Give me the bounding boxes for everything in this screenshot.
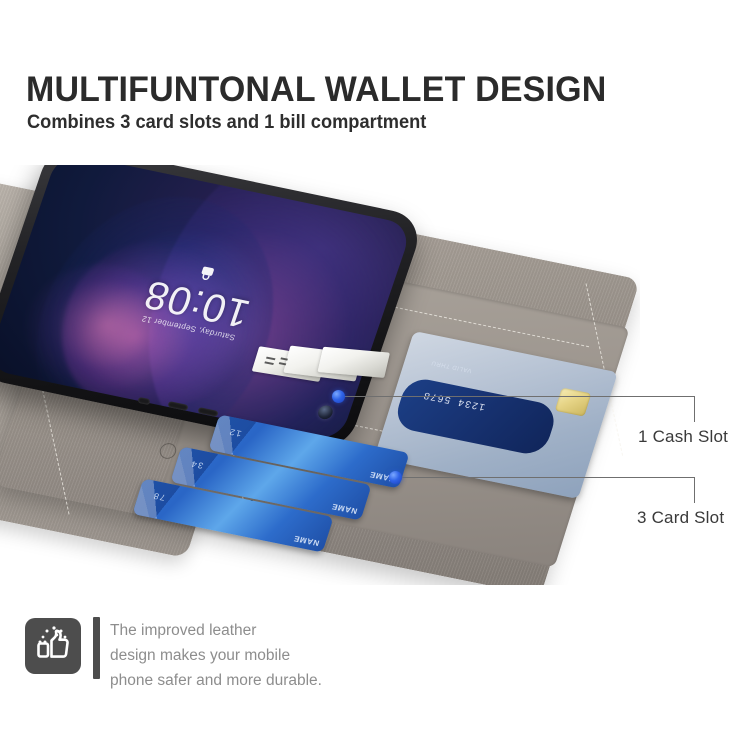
callout-line-cash-slot	[342, 396, 695, 397]
callout-label-card-slot: 3 Card Slot	[637, 508, 724, 528]
callout-line-cash-slot-vertical	[694, 396, 695, 422]
footer-divider	[93, 617, 100, 679]
callout-dot-card-slot	[389, 471, 402, 484]
footer-line: phone safer and more durable.	[110, 668, 400, 693]
callout-line-card-slot-vertical	[694, 477, 695, 503]
product-photo: Saturday, September 12 10:08	[0, 165, 640, 585]
card-band	[393, 376, 560, 457]
footer-line: design makes your mobile	[110, 643, 400, 668]
card-valid-thru: VALID THRU	[430, 359, 472, 373]
page-title: MULTIFUNTONAL WALLET DESIGN	[26, 72, 606, 107]
card-chip-icon	[555, 388, 592, 417]
product-infographic: MULTIFUNTONAL WALLET DESIGN Combines 3 c…	[0, 0, 750, 750]
callout-line-card-slot	[399, 477, 695, 478]
footer-line: The improved leather	[110, 618, 400, 643]
footer-description: The improved leather design makes your m…	[110, 618, 400, 693]
thumbs-up-icon	[25, 618, 81, 674]
callout-dot-cash-slot	[332, 390, 345, 403]
page-subtitle: Combines 3 card slots and 1 bill compart…	[27, 113, 426, 132]
callout-label-cash-slot: 1 Cash Slot	[638, 427, 728, 447]
